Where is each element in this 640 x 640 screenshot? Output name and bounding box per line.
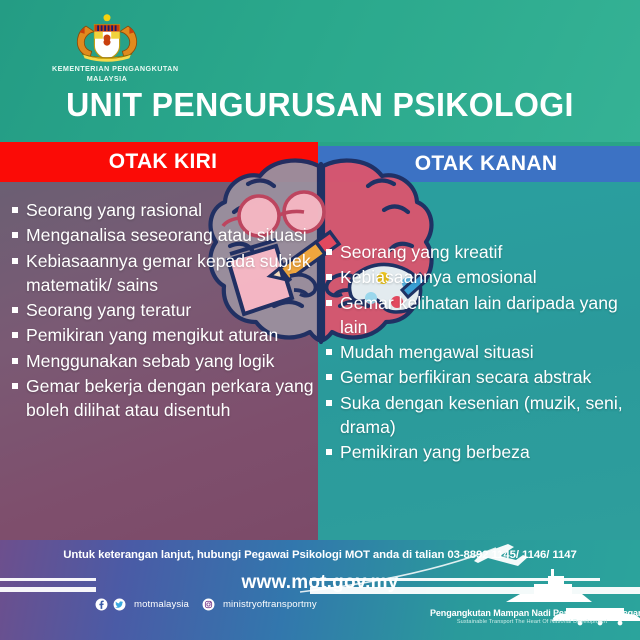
psychology-unit-infographic: KEMENTERIAN PENGANGKUTAN MALAYSIA UNIT P… xyxy=(0,0,640,640)
list-item: Seorang yang teratur xyxy=(8,298,318,322)
ministry-logo-block: KEMENTERIAN PENGANGKUTAN MALAYSIA xyxy=(52,12,162,83)
tagline-main: Pengangkutan Mampan Nadi Pembangunan Neg… xyxy=(430,608,634,618)
list-item: Kebiasaannya emosional xyxy=(322,265,634,289)
list-item: Pemikiran yang berbeza xyxy=(322,440,634,464)
list-item: Mudah mengawal situasi xyxy=(322,340,634,364)
tagline-sub: Sustainable Transport The Heart Of Natio… xyxy=(430,619,634,625)
ministry-name-line2: MALAYSIA xyxy=(52,74,162,84)
footer-website-url[interactable]: www.mot.gov.my xyxy=(0,572,640,594)
list-item: Pemikiran yang mengikut aturan xyxy=(8,323,318,347)
ministry-name-line1: KEMENTERIAN PENGANGKUTAN xyxy=(52,64,162,74)
list-item: Seorang yang kreatif xyxy=(322,240,634,264)
left-brain-trait-list: Seorang yang rasional Menganalisa seseor… xyxy=(8,198,318,423)
malaysia-coat-of-arms-icon xyxy=(65,12,149,64)
list-item: Kebiasaannya gemar kepada subjek matemat… xyxy=(8,249,318,298)
footer-contact-text: Untuk keterangan lanjut, hubungi Pegawai… xyxy=(0,549,640,561)
list-item: Seorang yang rasional xyxy=(8,198,318,222)
list-item: Gemar bekerja dengan perkara yang boleh … xyxy=(8,374,318,423)
page-title: UNIT PENGURUSAN PSIKOLOGI xyxy=(10,86,631,124)
list-item: Menganalisa seseorang atau situasi xyxy=(8,223,318,247)
header-band: KEMENTERIAN PENGANGKUTAN MALAYSIA UNIT P… xyxy=(0,0,640,142)
footer-band: Untuk keterangan lanjut, hubungi Pegawai… xyxy=(0,540,640,640)
list-item: Gemar berfikiran secara abstrak xyxy=(322,365,634,389)
list-item: Menggunakan sebab yang logik xyxy=(8,349,318,373)
right-brain-trait-list: Seorang yang kreatif Kebiasaannya emosio… xyxy=(322,240,634,465)
list-item: Suka dengan kesenian (muzik, seni, drama… xyxy=(322,391,634,440)
list-item: Gemar kelihatan lain daripada yang lain xyxy=(322,291,634,340)
ministry-tagline: Pengangkutan Mampan Nadi Pembangunan Neg… xyxy=(0,608,634,625)
